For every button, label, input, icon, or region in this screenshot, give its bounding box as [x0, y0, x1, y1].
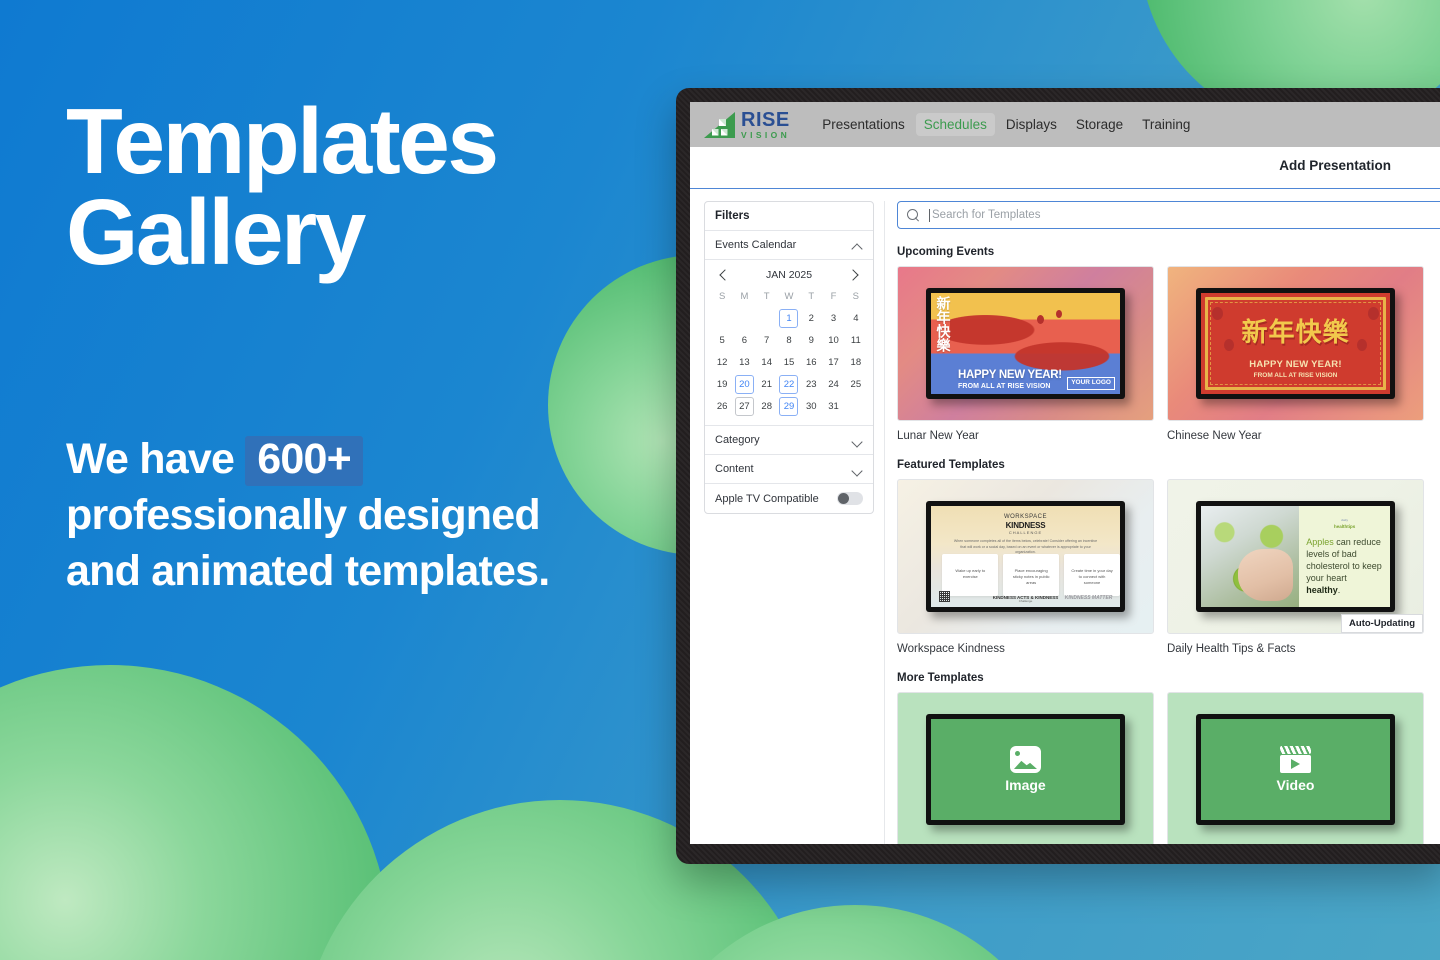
section-title-more-templates: More Templates	[897, 672, 1440, 684]
template-card-label: Chinese New Year	[1167, 430, 1424, 442]
wk-tile: Place encouraging sticky notes in public…	[1003, 554, 1059, 596]
calendar-dow: S	[711, 288, 733, 307]
template-card-daily-health-tips[interactable]: daily healthtips Apples can reduce level…	[1167, 479, 1424, 655]
calendar-day-5[interactable]: 5	[713, 331, 732, 350]
search-icon	[907, 209, 920, 222]
subtitle-line-3: and animated templates.	[66, 544, 676, 600]
calendar-dow: F	[822, 288, 844, 307]
health-tip-keyword: Apples	[1306, 537, 1334, 547]
image-icon	[1010, 746, 1041, 773]
template-card-label: Daily Health Tips & Facts	[1167, 643, 1424, 655]
wk-body-text: When someone completes all of the items …	[954, 539, 1098, 555]
headline-line-2: Gallery	[66, 187, 666, 278]
nav-items: Presentations Schedules Displays Storage…	[814, 113, 1198, 136]
logo-rise-text: RISE	[741, 111, 790, 130]
template-card-workspace-kindness[interactable]: WORKSPACE KINDNESS CHALLENGE When someon…	[897, 479, 1154, 655]
tv-screen: WORKSPACE KINDNESS CHALLENGE When someon…	[931, 506, 1120, 606]
status-badge-auto-updating: Auto-Updating	[1341, 614, 1423, 633]
text-caret	[929, 209, 930, 222]
template-thumbnail: 新年快樂 HAPPY NEW YEAR! FROM ALL AT RISE VI…	[1167, 266, 1424, 421]
wk-signature: KINDNESS MATTER	[1065, 595, 1113, 601]
tv-screen: 新年快樂 HAPPY NEW YEAR! FROM ALL AT RISE VI…	[931, 293, 1120, 393]
card-row-more-templates: Image Video	[897, 692, 1440, 844]
calendar-day-31[interactable]: 31	[824, 397, 843, 416]
monitor-frame: RISE VISION Presentations Schedules Disp…	[676, 88, 1440, 864]
headline-line-1: Templates	[66, 96, 666, 187]
template-thumbnail: daily healthtips Apples can reduce level…	[1167, 479, 1424, 634]
rise-vision-logo[interactable]: RISE VISION	[702, 110, 790, 140]
template-card-image[interactable]: Image	[897, 692, 1154, 844]
calendar-day-22[interactable]: 22	[779, 375, 798, 394]
filter-category[interactable]: Category	[705, 426, 873, 455]
calendar-day-3[interactable]: 3	[824, 309, 843, 328]
nav-item-displays[interactable]: Displays	[998, 113, 1065, 136]
content-column: Search for Templates Upcoming Events 新年快…	[885, 189, 1440, 844]
template-thumbnail: WORKSPACE KINDNESS CHALLENGE When someon…	[897, 479, 1154, 634]
wk-title-2: KINDNESS	[931, 521, 1120, 530]
filter-apple-tv-label: Apple TV Compatible	[715, 493, 819, 505]
filter-events-calendar-label: Events Calendar	[715, 239, 796, 251]
marketing-subtitle: We have 600+ professionally designed and…	[66, 432, 676, 600]
hand-shape	[1238, 549, 1293, 601]
subtitle-prefix: We have	[66, 435, 234, 483]
calendar-day-24[interactable]: 24	[824, 375, 843, 394]
lunar-chinese-text: 新年快樂	[936, 296, 949, 352]
apple-tv-toggle[interactable]	[837, 492, 863, 505]
logo-vision-text: VISION	[741, 131, 790, 140]
page-title: Add Presentation	[1279, 158, 1391, 173]
rise-logo-icon	[702, 110, 738, 140]
nav-item-schedules[interactable]: Schedules	[916, 113, 995, 136]
chevron-down-icon	[852, 435, 863, 446]
calendar-nav: JAN 2025	[711, 266, 867, 288]
calendar-month-label: JAN 2025	[766, 269, 812, 281]
calendar-weekday-row: S M T W T F S	[711, 288, 867, 307]
template-card-label: Workspace Kindness	[897, 643, 1154, 655]
section-title-featured-templates: Featured Templates	[897, 459, 1440, 471]
template-card-video[interactable]: Video	[1167, 692, 1424, 844]
clapper-top	[1280, 746, 1311, 754]
calendar-day-18[interactable]: 18	[846, 353, 865, 372]
calendar-prev-month-button[interactable]	[717, 268, 731, 282]
nav-item-training[interactable]: Training	[1134, 113, 1198, 136]
cny-headline: HAPPY NEW YEAR!	[1201, 359, 1390, 370]
template-thumbnail: Image	[897, 692, 1154, 844]
healthtips-logo-small: daily	[1306, 518, 1383, 523]
tv-mockup: Image	[926, 714, 1125, 824]
calendar-day-20[interactable]: 20	[735, 375, 754, 394]
filters-title: Filters	[705, 202, 873, 231]
tv-mockup: daily healthtips Apples can reduce level…	[1196, 501, 1395, 611]
wk-tile: Wake up early to exercise	[942, 554, 998, 596]
calendar-dow: T	[800, 288, 822, 307]
calendar-day-7[interactable]: 7	[757, 331, 776, 350]
template-card-label: Lunar New Year	[897, 430, 1154, 442]
calendar-days-grid: 1234567891011121314151617181920212223242…	[711, 307, 867, 417]
app-body: Filters Events Calendar JAN 2025 S M T	[690, 189, 1440, 844]
health-tip-copy: Apples can reduce levels of bad choleste…	[1306, 537, 1383, 596]
media-label: Image	[1005, 777, 1045, 793]
nav-item-storage[interactable]: Storage	[1068, 113, 1131, 136]
calendar-day-6[interactable]: 6	[735, 331, 754, 350]
calendar-next-month-button[interactable]	[847, 268, 861, 282]
calendar-dow: T	[756, 288, 778, 307]
template-thumbnail: 新年快樂 HAPPY NEW YEAR! FROM ALL AT RISE VI…	[897, 266, 1154, 421]
tv-mockup: WORKSPACE KINDNESS CHALLENGE When someon…	[926, 501, 1125, 611]
calendar-day-30[interactable]: 30	[802, 397, 821, 416]
filters-column: Filters Events Calendar JAN 2025 S M T	[690, 189, 874, 844]
lunar-subline: FROM ALL AT RISE VISION	[958, 383, 1051, 390]
marketing-headline: Templates Gallery	[66, 96, 666, 278]
filters-panel: Filters Events Calendar JAN 2025 S M T	[704, 201, 874, 514]
cny-chinese-text: 新年快樂	[1201, 319, 1390, 345]
healthtips-logo-text: healthtips	[1334, 524, 1355, 529]
calendar-day-13[interactable]: 13	[735, 353, 754, 372]
search-input[interactable]: Search for Templates	[897, 201, 1440, 229]
card-row-featured-templates: WORKSPACE KINDNESS CHALLENGE When someon…	[897, 479, 1440, 655]
chevron-down-icon	[852, 464, 863, 475]
tv-screen: Image	[931, 719, 1120, 819]
calendar-day-29[interactable]: 29	[779, 397, 798, 416]
calendar-day-2[interactable]: 2	[802, 309, 821, 328]
tv-screen: Video	[1201, 719, 1390, 819]
card-row-upcoming-events: 新年快樂 HAPPY NEW YEAR! FROM ALL AT RISE VI…	[897, 266, 1440, 442]
template-card-chinese-new-year[interactable]: 新年快樂 HAPPY NEW YEAR! FROM ALL AT RISE VI…	[1167, 266, 1424, 442]
calendar-day-26[interactable]: 26	[713, 397, 732, 416]
calendar-day-9[interactable]: 9	[802, 331, 821, 350]
lunar-headline: HAPPY NEW YEAR!	[958, 369, 1062, 381]
filter-category-label: Category	[715, 434, 760, 446]
calendar-day-12[interactable]: 12	[713, 353, 732, 372]
section-title-upcoming-events: Upcoming Events	[897, 246, 1440, 258]
video-icon	[1280, 746, 1311, 773]
healthtips-logo: daily healthtips	[1306, 518, 1383, 530]
calendar-day-14[interactable]: 14	[757, 353, 776, 372]
logo-wordmark: RISE VISION	[741, 110, 790, 140]
tv-mockup: Video	[1196, 714, 1395, 824]
calendar-dow: M	[733, 288, 755, 307]
page-header: Add Presentation	[690, 147, 1440, 189]
app-navbar: RISE VISION Presentations Schedules Disp…	[690, 102, 1440, 147]
template-thumbnail: Video	[1167, 692, 1424, 844]
events-calendar: JAN 2025 S M T W T F S 12345678910111213…	[705, 260, 873, 426]
tv-mockup: 新年快樂 HAPPY NEW YEAR! FROM ALL AT RISE VI…	[1196, 288, 1395, 398]
wk-title-1: WORKSPACE	[931, 514, 1120, 520]
calendar-dow: S	[845, 288, 867, 307]
filter-content[interactable]: Content	[705, 455, 873, 484]
filter-apple-tv-compatible[interactable]: Apple TV Compatible	[705, 484, 873, 513]
cny-subline: FROM ALL AT RISE VISION	[1201, 372, 1390, 379]
health-tip-period: .	[1338, 585, 1341, 595]
chevron-up-icon	[852, 240, 863, 251]
calendar-day-25[interactable]: 25	[846, 375, 865, 394]
tv-screen: daily healthtips Apples can reduce level…	[1201, 506, 1390, 606]
calendar-day-4[interactable]: 4	[846, 309, 865, 328]
clapper-body	[1280, 755, 1311, 773]
calendar-day-17[interactable]: 17	[824, 353, 843, 372]
wk-tile: Create time in your day to connect with …	[1064, 554, 1120, 596]
calendar-day-28[interactable]: 28	[757, 397, 776, 416]
apple-photo	[1201, 506, 1299, 606]
calendar-day-15[interactable]: 15	[779, 353, 798, 372]
dragon-illustration	[950, 311, 1111, 373]
calendar-day-21[interactable]: 21	[757, 375, 776, 394]
calendar-day-19[interactable]: 19	[713, 375, 732, 394]
template-count-badge: 600+	[245, 436, 363, 486]
tv-mockup: 新年快樂 HAPPY NEW YEAR! FROM ALL AT RISE VI…	[926, 288, 1125, 398]
health-tip-emphasis: healthy	[1306, 585, 1338, 595]
calendar-day-10[interactable]: 10	[824, 331, 843, 350]
subtitle-line-2: professionally designed	[66, 488, 676, 544]
calendar-day-8[interactable]: 8	[779, 331, 798, 350]
calendar-day-1[interactable]: 1	[779, 309, 798, 328]
app-screen: RISE VISION Presentations Schedules Disp…	[690, 102, 1440, 844]
calendar-dow: W	[778, 288, 800, 307]
template-card-lunar-new-year[interactable]: 新年快樂 HAPPY NEW YEAR! FROM ALL AT RISE VI…	[897, 266, 1154, 442]
filter-content-label: Content	[715, 463, 754, 475]
calendar-day-16[interactable]: 16	[802, 353, 821, 372]
your-logo-placeholder: YOUR LOGO	[1067, 377, 1115, 390]
wk-tiles: Wake up early to exercise Place encourag…	[942, 554, 1120, 596]
tv-screen: 新年快樂 HAPPY NEW YEAR! FROM ALL AT RISE VI…	[1201, 293, 1390, 393]
calendar-day-27[interactable]: 27	[735, 397, 754, 416]
health-tip-panel: daily healthtips Apples can reduce level…	[1299, 506, 1390, 606]
nav-item-presentations[interactable]: Presentations	[814, 113, 913, 136]
wk-title-3: CHALLENGE	[931, 530, 1120, 535]
calendar-day-23[interactable]: 23	[802, 375, 821, 394]
search-placeholder: Search for Templates	[932, 209, 1040, 221]
filter-events-calendar-header[interactable]: Events Calendar	[705, 231, 873, 260]
calendar-day-11[interactable]: 11	[846, 331, 865, 350]
subtitle-line-1: We have 600+	[66, 432, 676, 488]
media-label: Video	[1277, 777, 1315, 793]
